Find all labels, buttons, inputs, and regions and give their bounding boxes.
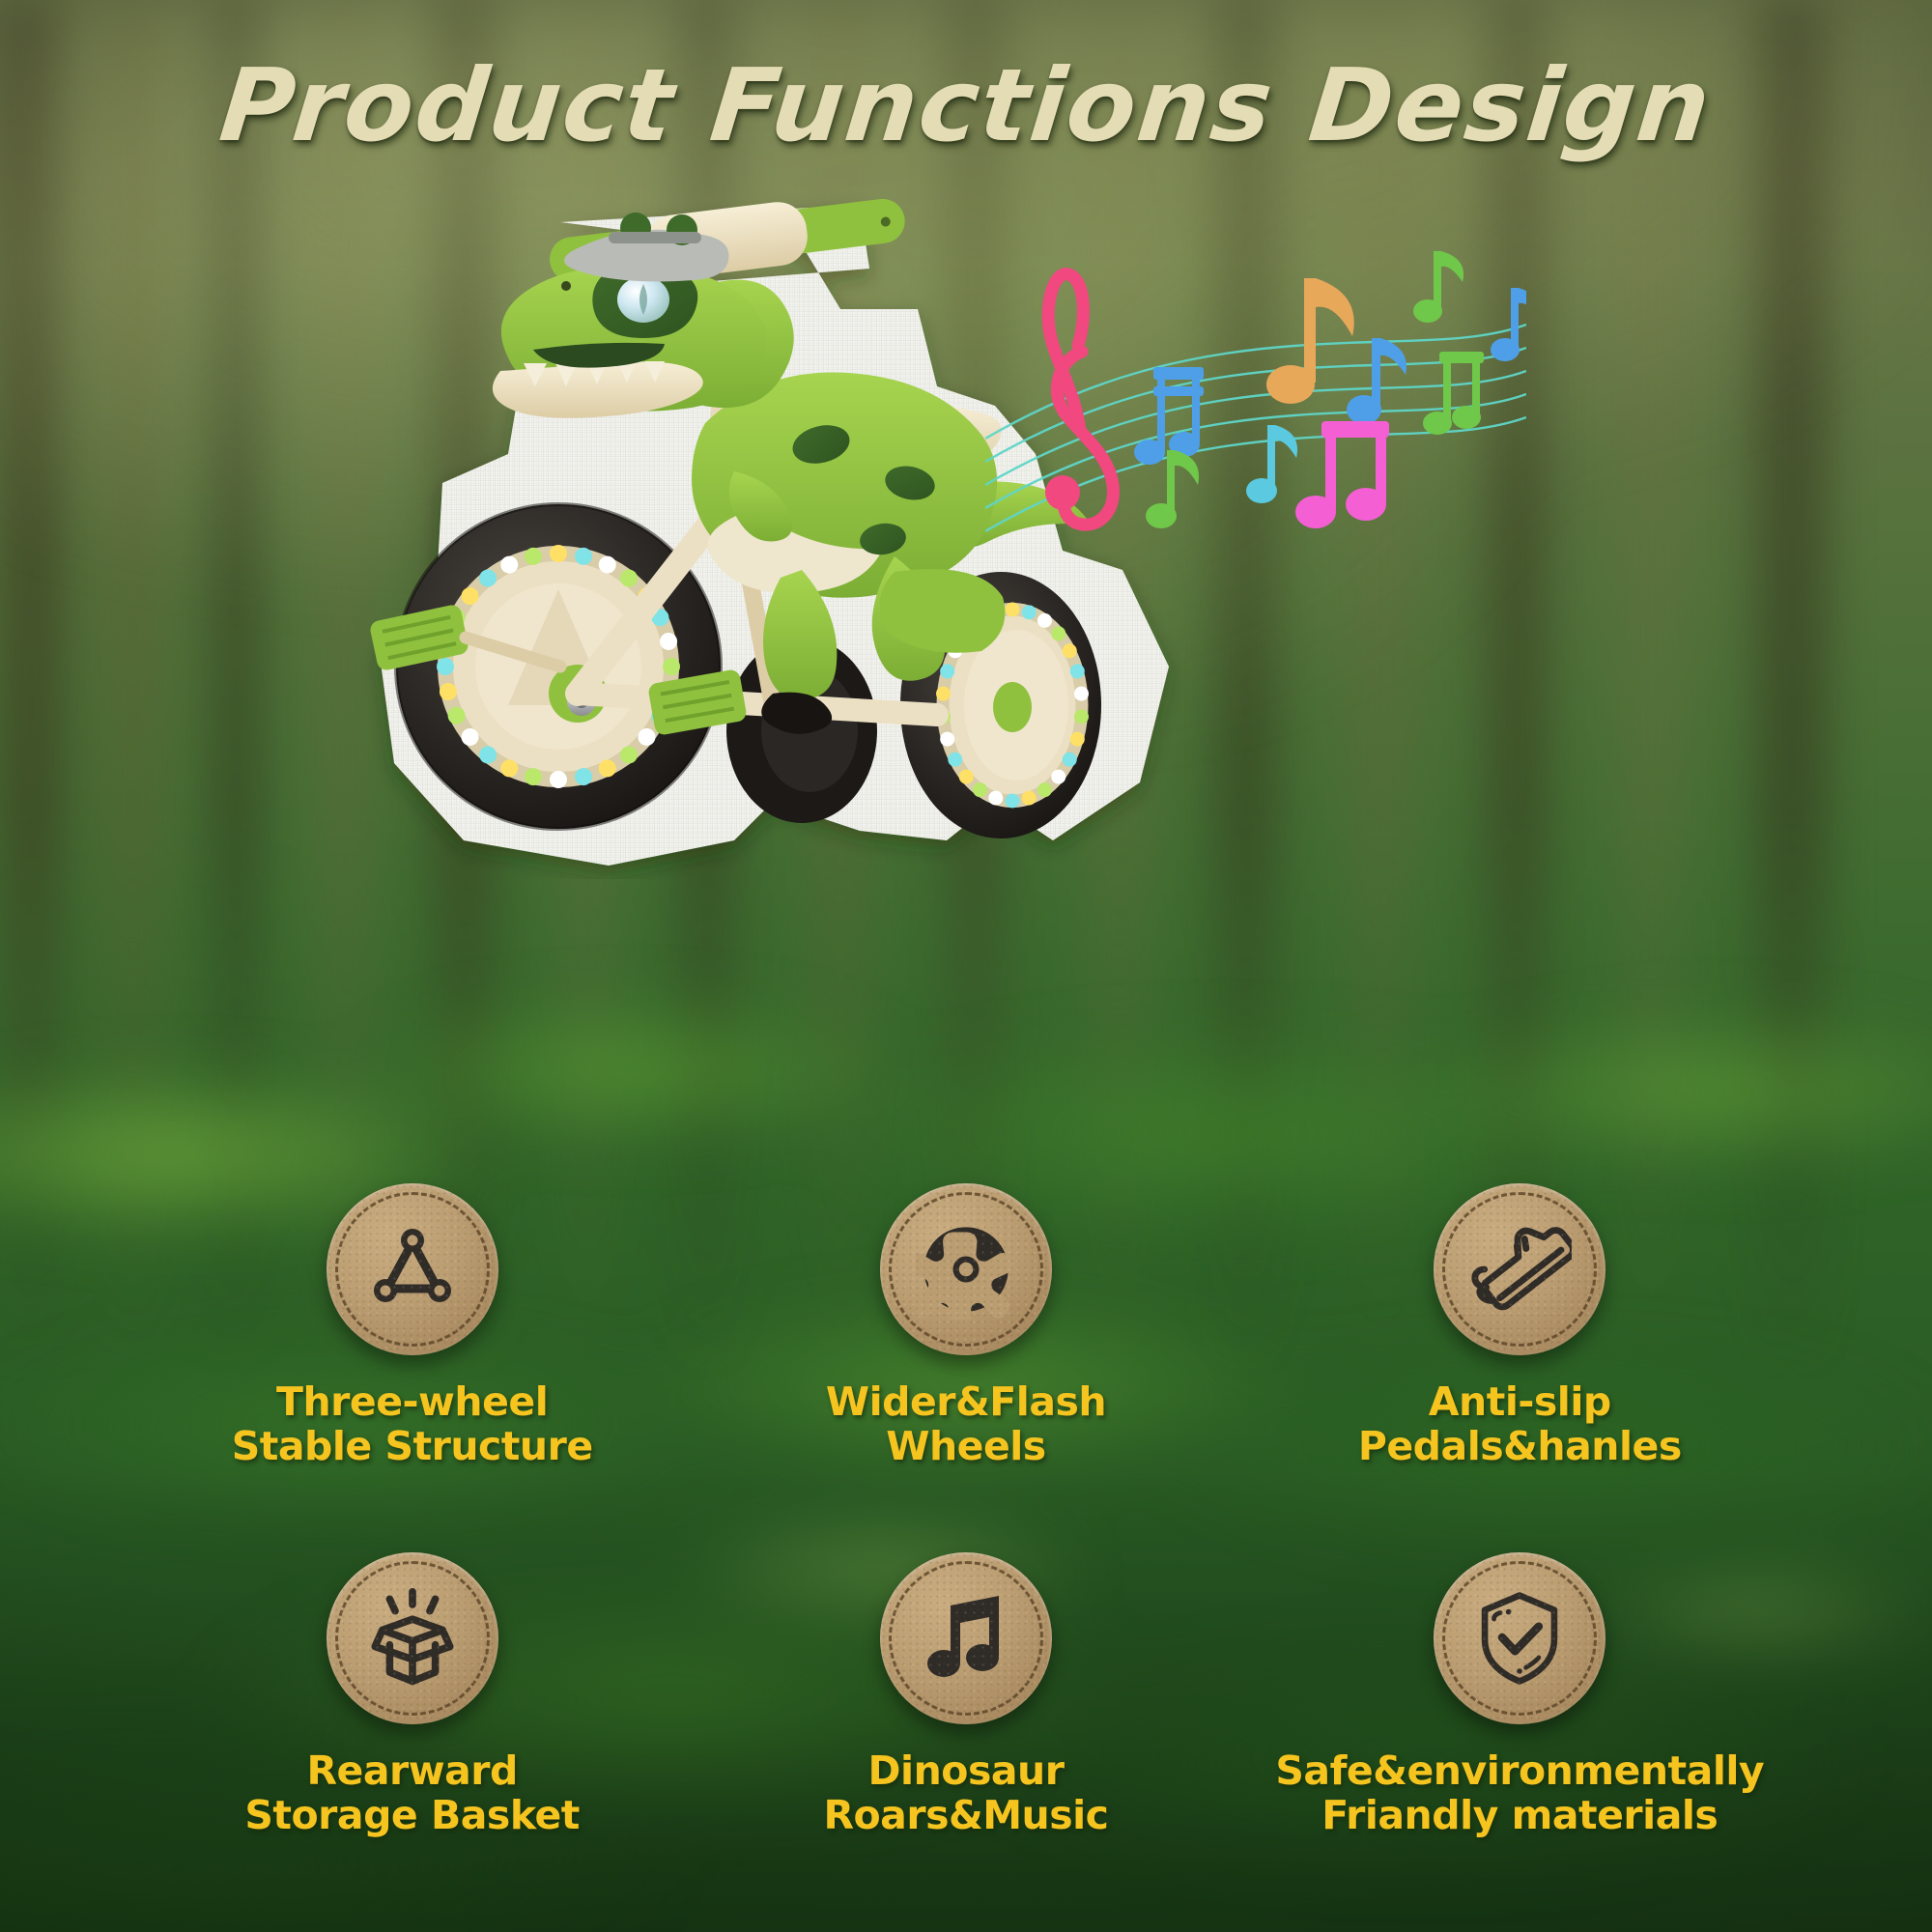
feature-label: Dinosaur Roars&Music (823, 1749, 1108, 1838)
feature-safe[interactable]: Safe&environmentally Friandly materials (1243, 1552, 1797, 1838)
feature-label: Safe&environmentally Friandly materials (1275, 1749, 1764, 1838)
music-notes-graphic (985, 232, 1526, 618)
music-note-icon (918, 1590, 1014, 1687)
feature-label: Three-wheel Stable Structure (232, 1380, 593, 1469)
feature-grid: Three-wheel Stable Structure Wider&Flash… (135, 1183, 1797, 1838)
feature-row-1: Three-wheel Stable Structure Wider&Flash… (135, 1183, 1797, 1469)
page-title: Product Functions Design (0, 46, 1932, 164)
feature-wheels[interactable]: Wider&Flash Wheels (689, 1183, 1242, 1469)
feature-label: Rearward Storage Basket (244, 1749, 580, 1838)
feature-badge (327, 1552, 498, 1724)
eighth-note-green-top (1413, 251, 1463, 323)
eighth-note-orange (1266, 278, 1354, 404)
sneaker-icon (1467, 1217, 1572, 1321)
feature-badge (1434, 1552, 1605, 1724)
feature-row-2: Rearward Storage Basket Dinos (135, 1552, 1797, 1838)
feature-storage[interactable]: Rearward Storage Basket (135, 1552, 689, 1838)
feature-badge (880, 1183, 1052, 1355)
marketing-image: Product Functions Design (0, 0, 1932, 1932)
shield-check-icon (1469, 1588, 1570, 1689)
feature-anti-slip[interactable]: Anti-slip Pedals&hanles (1243, 1183, 1797, 1469)
feature-music[interactable]: Dinosaur Roars&Music (689, 1552, 1242, 1838)
feature-badge (880, 1552, 1052, 1724)
wheel-icon (916, 1219, 1016, 1320)
feature-badge (1434, 1183, 1605, 1355)
open-box-icon (362, 1588, 463, 1689)
feature-label: Anti-slip Pedals&hanles (1358, 1380, 1682, 1469)
feature-label: Wider&Flash Wheels (826, 1380, 1106, 1469)
feature-badge (327, 1183, 498, 1355)
triangle-nodes-icon (364, 1221, 461, 1318)
eighth-note-cyan (1246, 425, 1297, 503)
feature-three-wheel[interactable]: Three-wheel Stable Structure (135, 1183, 689, 1469)
